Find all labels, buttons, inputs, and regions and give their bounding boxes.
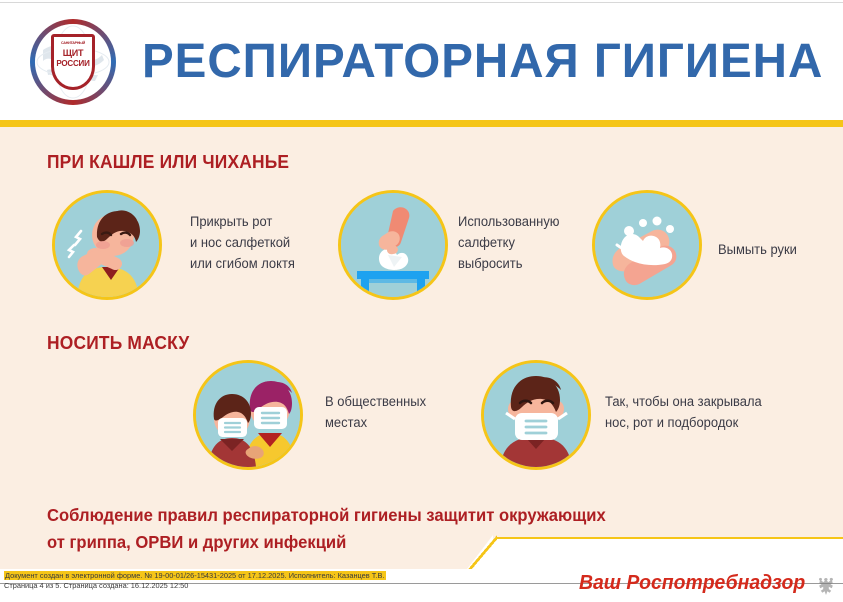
- caption-sneeze-into-elbow: Прикрыть рот и нос салфеткой или сгибом …: [190, 212, 295, 275]
- section-title-cough: ПРИ КАШЛЕ ИЛИ ЧИХАНЬЕ: [47, 151, 289, 173]
- illustration-mask-fit-face: [481, 360, 591, 470]
- poster-body: ПРИ КАШЛЕ ИЛИ ЧИХАНЬЕ: [0, 127, 843, 569]
- document-info-line-1: Документ создан в электронной форме. № 1…: [4, 571, 386, 580]
- document-info: Документ создан в электронной форме. № 1…: [4, 569, 386, 591]
- caption-wash-hands: Вымыть руки: [718, 240, 797, 261]
- document-info-line-2: Страница 4 из 5. Страница создана: 16.12…: [4, 580, 386, 591]
- poster: САНИТАРНЫЙ ЩИТ РОССИИ РЕСПИРАТОРНАЯ ГИГИ…: [0, 0, 843, 599]
- footer-notch-diagonal: [467, 535, 497, 569]
- sanitary-shield-logo: САНИТАРНЫЙ ЩИТ РОССИИ: [30, 19, 116, 105]
- poster-header: САНИТАРНЫЙ ЩИТ РОССИИ РЕСПИРАТОРНАЯ ГИГИ…: [0, 2, 843, 121]
- illustration-two-people-masked: [193, 360, 303, 470]
- header-divider: [0, 120, 843, 127]
- page-title: РЕСПИРАТОРНАЯ ГИГИЕНА: [142, 38, 823, 86]
- brand-rospotrebnadzor: Ваш Роспотребнадзор: [579, 572, 805, 595]
- logo-line-3: РОССИИ: [51, 59, 95, 68]
- caption-in-public-places: В общественных местах: [325, 392, 426, 434]
- footer-notch: [473, 537, 843, 569]
- logo-line-2: ЩИТ: [51, 48, 95, 58]
- double-headed-eagle-icon: [815, 575, 837, 597]
- illustration-sneeze-into-elbow: [52, 190, 162, 300]
- illustration-tissue-into-bin: [338, 190, 448, 300]
- section-title-mask: НОСИТЬ МАСКУ: [47, 332, 189, 354]
- caption-mask-fit-face: Так, чтобы она закрывала нос, рот и подб…: [605, 392, 762, 434]
- poster-footer: Ваш Роспотребнадзор Документ создан в эл…: [0, 569, 843, 599]
- shield-icon: САНИТАРНЫЙ ЩИТ РОССИИ: [51, 34, 95, 90]
- logo-line-1: САНИТАРНЫЙ: [51, 41, 95, 45]
- illustration-wash-hands: [592, 190, 702, 300]
- caption-tissue-into-bin: Использованную салфетку выбросить: [458, 212, 560, 275]
